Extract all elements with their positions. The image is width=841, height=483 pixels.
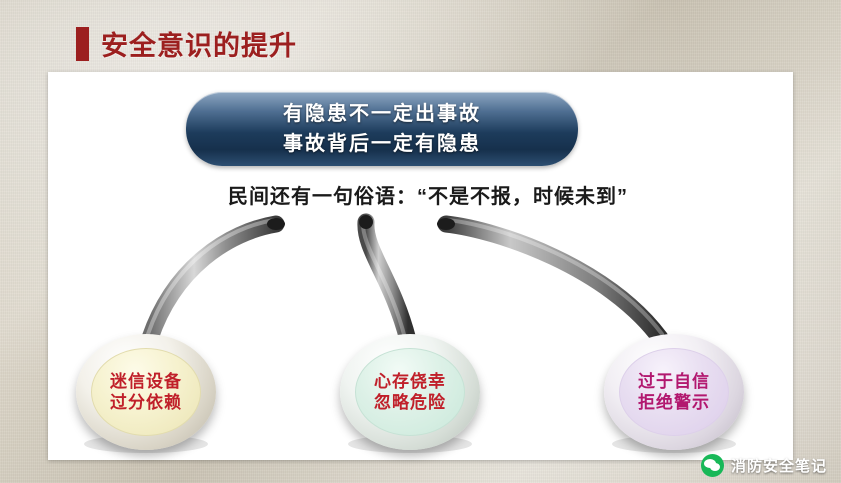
arc-middle-tip xyxy=(359,215,373,229)
arc-left-tip xyxy=(267,218,285,230)
arc-right xyxy=(446,224,660,338)
bubble-3-inner: 过于自信 拒绝警示 xyxy=(619,348,729,436)
page-title: 安全意识的提升 xyxy=(101,24,297,63)
bubble-3-line-2: 拒绝警示 xyxy=(638,392,710,413)
watermark-label: 消防安全笔记 xyxy=(731,455,827,476)
wechat-icon xyxy=(701,454,724,477)
bubble-2-inner: 心存侥幸 忽略危险 xyxy=(355,348,465,436)
bubble-item-2[interactable]: 心存侥幸 忽略危险 xyxy=(340,334,480,450)
bubble-item-1[interactable]: 迷信设备 过分依赖 xyxy=(76,334,216,450)
bubble-2-line-2: 忽略危险 xyxy=(374,392,446,413)
bubble-1-line-1: 迷信设备 xyxy=(110,371,182,392)
arc-left xyxy=(150,224,276,338)
title-accent-bar xyxy=(76,27,89,61)
bubble-2-line-1: 心存侥幸 xyxy=(374,371,446,392)
bubble-1-inner: 迷信设备 过分依赖 xyxy=(91,348,201,436)
slide-canvas: 安全意识的提升 有隐患不一定出事故 事故背后一定有隐患 民间还有一句俗语：“不是… xyxy=(0,0,841,483)
bubble-1-line-2: 过分依赖 xyxy=(110,392,182,413)
slide-title-bar: 安全意识的提升 xyxy=(76,24,297,63)
arc-right-tip xyxy=(437,218,455,230)
watermark: 消防安全笔记 xyxy=(701,454,827,477)
content-panel: 有隐患不一定出事故 事故背后一定有隐患 民间还有一句俗语：“不是不报，时候未到” xyxy=(48,72,793,460)
bubble-item-3[interactable]: 过于自信 拒绝警示 xyxy=(604,334,744,450)
bubble-3-line-1: 过于自信 xyxy=(638,371,710,392)
